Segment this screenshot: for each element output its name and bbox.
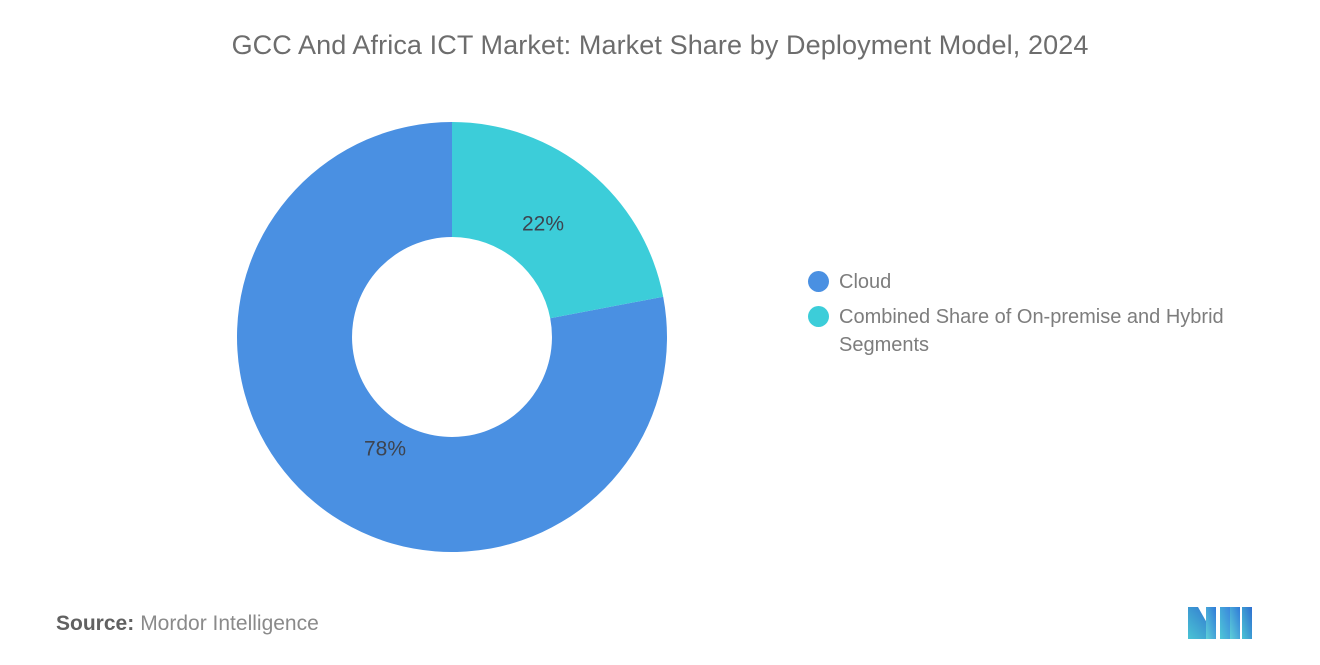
chart-legend: Cloud Combined Share of On-premise and H… bbox=[808, 268, 1298, 366]
source-attribution: Source:Mordor Intelligence bbox=[56, 612, 319, 636]
legend-label-combined: Combined Share of On-premise and Hybrid … bbox=[839, 303, 1291, 359]
pie-slice-label-combined: 22% bbox=[522, 213, 564, 236]
donut-chart-figure: GCC And Africa ICT Market: Market Share … bbox=[0, 0, 1320, 665]
chart-title: GCC And Africa ICT Market: Market Share … bbox=[0, 30, 1320, 61]
legend-item-cloud[interactable]: Cloud bbox=[808, 268, 1298, 296]
source-label: Source: bbox=[56, 612, 134, 635]
legend-marker-cloud-icon bbox=[808, 271, 829, 292]
legend-marker-combined-icon bbox=[808, 306, 829, 327]
legend-label-cloud: Cloud bbox=[839, 268, 891, 296]
mordor-intelligence-logo-icon bbox=[1186, 597, 1254, 641]
donut-chart-svg: 78% 22% bbox=[237, 122, 667, 552]
pie-slice-label-cloud: 78% bbox=[364, 438, 406, 461]
legend-item-combined[interactable]: Combined Share of On-premise and Hybrid … bbox=[808, 303, 1298, 359]
donut-chart-plot-area: 78% 22% bbox=[237, 122, 667, 552]
source-value: Mordor Intelligence bbox=[140, 612, 319, 635]
